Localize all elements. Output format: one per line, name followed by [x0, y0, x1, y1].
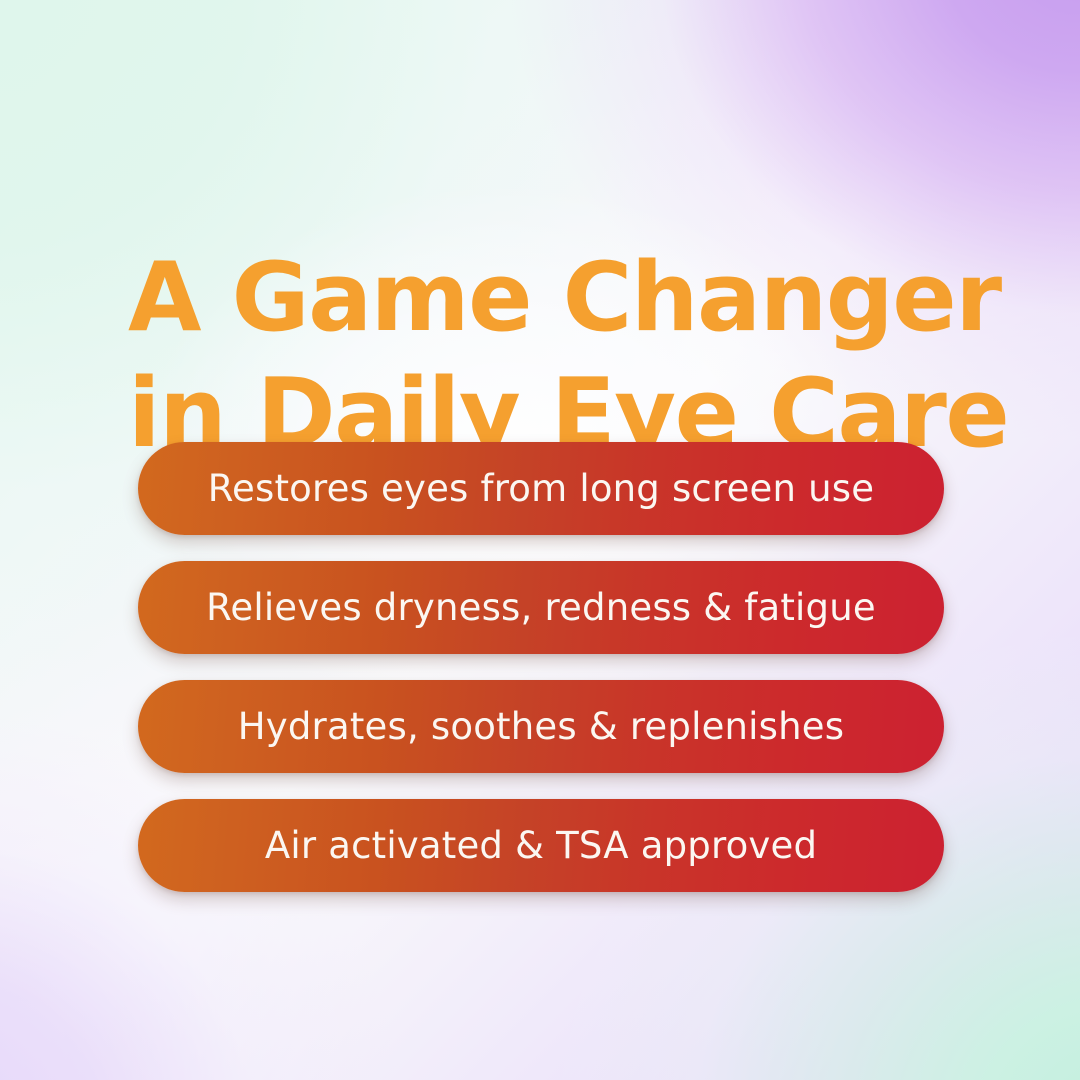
headline-line-1: A Game Changer: [128, 240, 958, 356]
promo-poster: A Game Changer in Daily Eye Care Restore…: [0, 0, 1080, 1080]
benefit-label: Restores eyes from long screen use: [208, 467, 874, 510]
benefit-label: Hydrates, soothes & replenishes: [238, 705, 844, 748]
poster-content: A Game Changer in Daily Eye Care Restore…: [0, 0, 1080, 1080]
benefit-pill-air-activated: Air activated & TSA approved: [138, 799, 944, 892]
benefit-pill-relieves: Relieves dryness, redness & fatigue: [138, 561, 944, 654]
benefit-label: Air activated & TSA approved: [265, 824, 817, 867]
benefit-pill-restores: Restores eyes from long screen use: [138, 442, 944, 535]
page-title: A Game Changer in Daily Eye Care: [128, 240, 958, 472]
benefit-pill-hydrates: Hydrates, soothes & replenishes: [138, 680, 944, 773]
benefit-label: Relieves dryness, redness & fatigue: [206, 586, 876, 629]
benefit-list: Restores eyes from long screen use Relie…: [138, 442, 944, 892]
